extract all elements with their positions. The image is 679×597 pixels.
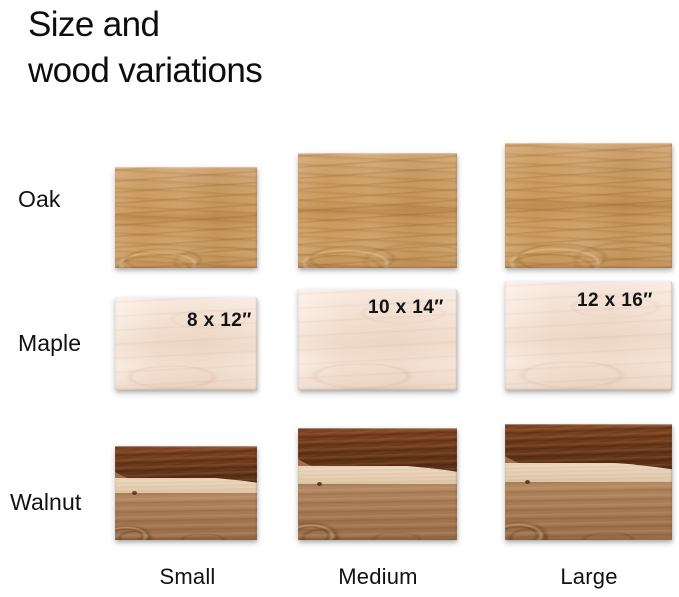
walnut-knot [317,482,322,486]
dimension-label-small: 8 x 12″ [187,310,252,332]
column-label-large: Large [505,564,673,590]
board-oak-large[interactable] [505,143,672,268]
board-walnut-small[interactable] [115,446,257,540]
board-oak-small[interactable] [115,167,257,268]
dimension-label-medium: 10 x 14″ [368,297,444,319]
column-label-medium: Medium [298,564,458,590]
walnut-lower-band [298,484,457,540]
walnut-knot [525,480,530,484]
oak-grain-arcs [298,153,457,268]
page-title: Size and wood variations [28,2,528,94]
board-walnut-large[interactable] [505,424,672,540]
row-label-walnut: Walnut [10,489,110,516]
walnut-light-grain [505,482,672,540]
board-oak-medium[interactable] [298,153,457,268]
dimension-label-large: 12 x 16″ [577,290,653,312]
size-and-wood-variations-infographic: Size and wood variations Oak Maple Walnu… [0,0,679,597]
row-label-oak: Oak [18,186,118,213]
oak-grain-arcs [115,167,257,268]
board-walnut-medium[interactable] [298,428,457,540]
column-label-small: Small [115,564,260,590]
oak-grain-arcs [505,143,672,268]
walnut-lower-band [505,482,672,540]
walnut-light-grain [115,493,257,540]
row-label-maple: Maple [18,330,118,357]
walnut-lower-band [115,493,257,540]
walnut-light-grain [298,484,457,540]
